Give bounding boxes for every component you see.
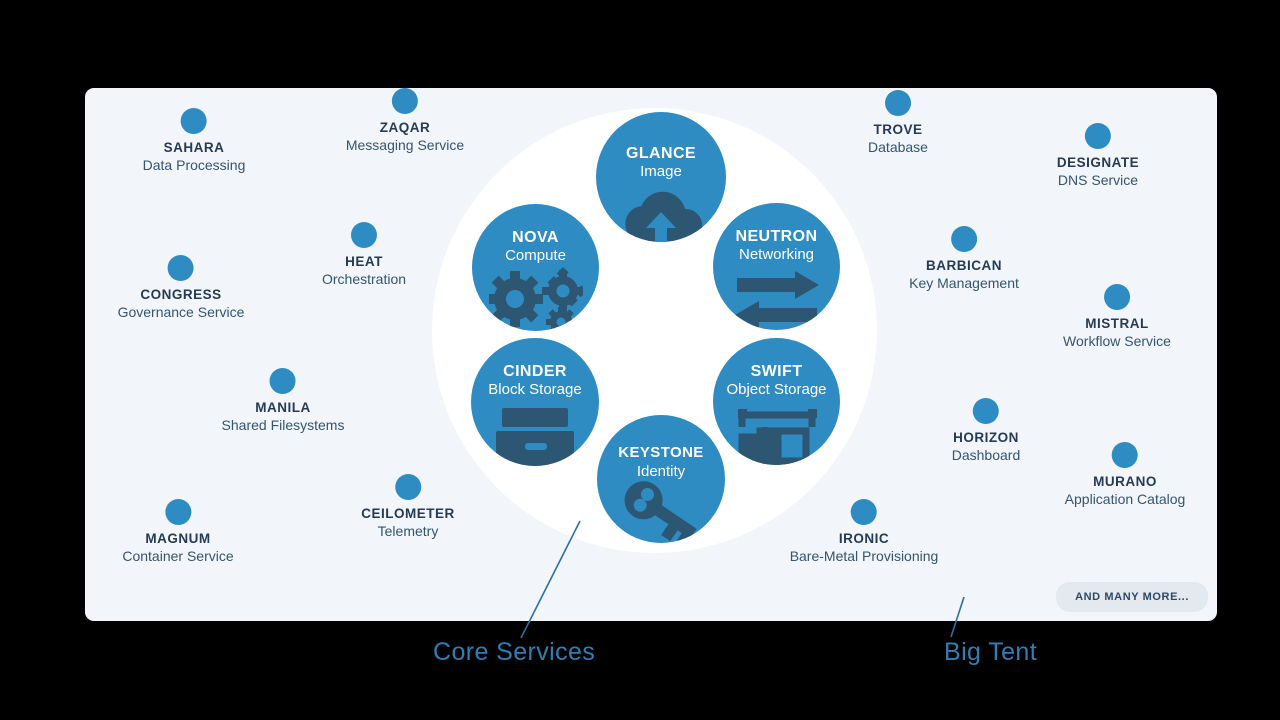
- service-dot-icon: [165, 499, 191, 525]
- service-heat[interactable]: HEAT Orchestration: [322, 222, 406, 289]
- service-desc: Workflow Service: [1063, 333, 1171, 351]
- core-node-keystone[interactable]: KEYSTONE Identity: [597, 415, 725, 543]
- service-name: ZAQAR: [346, 120, 464, 136]
- service-zaqar[interactable]: ZAQAR Messaging Service: [346, 88, 464, 155]
- service-trove[interactable]: TROVE Database: [868, 90, 928, 157]
- service-designate[interactable]: DESIGNATE DNS Service: [1057, 123, 1139, 190]
- service-name: CEILOMETER: [361, 506, 455, 522]
- services-card: GLANCE Image NEUTRON Networking SWIFT Ob: [85, 88, 1217, 621]
- service-magnum[interactable]: MAGNUM Container Service: [122, 499, 233, 566]
- service-dot-icon: [270, 368, 296, 394]
- service-desc: Container Service: [122, 548, 233, 566]
- service-name: MURANO: [1065, 474, 1186, 490]
- service-desc: Dashboard: [952, 447, 1021, 465]
- service-desc: Application Catalog: [1065, 491, 1186, 509]
- core-node-swift[interactable]: SWIFT Object Storage: [713, 338, 840, 465]
- service-desc: Shared Filesystems: [222, 417, 345, 435]
- service-manila[interactable]: MANILA Shared Filesystems: [222, 368, 345, 435]
- core-node-neutron[interactable]: NEUTRON Networking: [713, 203, 840, 330]
- service-desc: DNS Service: [1057, 172, 1139, 190]
- service-ceilometer[interactable]: CEILOMETER Telemetry: [361, 474, 455, 541]
- service-congress[interactable]: CONGRESS Governance Service: [118, 255, 245, 322]
- service-horizon[interactable]: HORIZON Dashboard: [952, 398, 1021, 465]
- core-node-keystone-desc: Identity: [597, 464, 725, 481]
- service-dot-icon: [392, 88, 418, 114]
- service-name: DESIGNATE: [1057, 155, 1139, 171]
- and-many-more-badge[interactable]: AND MANY MORE...: [1056, 582, 1208, 612]
- service-desc: Orchestration: [322, 271, 406, 289]
- service-dot-icon: [168, 255, 194, 281]
- service-desc: Messaging Service: [346, 137, 464, 155]
- caption-big-tent: Big Tent: [944, 638, 1037, 667]
- service-name: HORIZON: [952, 430, 1021, 446]
- service-barbican[interactable]: BARBICAN Key Management: [909, 226, 1019, 293]
- core-node-swift-desc: Object Storage: [713, 382, 840, 399]
- service-name: BARBICAN: [909, 258, 1019, 274]
- service-mistral[interactable]: MISTRAL Workflow Service: [1063, 284, 1171, 351]
- service-dot-icon: [851, 499, 877, 525]
- core-node-nova[interactable]: NOVA Compute: [472, 204, 599, 331]
- service-dot-icon: [181, 108, 207, 134]
- core-node-cinder-desc: Block Storage: [471, 382, 599, 399]
- service-name: MANILA: [222, 400, 345, 416]
- service-name: MAGNUM: [122, 531, 233, 547]
- service-name: SAHARA: [143, 140, 246, 156]
- diagram-canvas: GLANCE Image NEUTRON Networking SWIFT Ob: [0, 0, 1280, 720]
- service-dot-icon: [1112, 442, 1138, 468]
- core-node-neutron-desc: Networking: [713, 247, 840, 264]
- service-desc: Governance Service: [118, 304, 245, 322]
- service-desc: Database: [868, 139, 928, 157]
- service-dot-icon: [885, 90, 911, 116]
- service-dot-icon: [1104, 284, 1130, 310]
- core-node-nova-desc: Compute: [472, 248, 599, 265]
- core-node-neutron-name: NEUTRON: [713, 228, 840, 246]
- service-desc: Data Processing: [143, 157, 246, 175]
- service-dot-icon: [951, 226, 977, 252]
- core-node-glance-name: GLANCE: [596, 145, 726, 163]
- service-name: IRONIC: [790, 531, 939, 547]
- service-desc: Telemetry: [361, 523, 455, 541]
- service-name: MISTRAL: [1063, 316, 1171, 332]
- core-node-swift-name: SWIFT: [713, 363, 840, 381]
- core-node-glance-desc: Image: [596, 164, 726, 181]
- caption-core-services: Core Services: [433, 638, 595, 667]
- core-node-cinder[interactable]: CINDER Block Storage: [471, 338, 599, 466]
- service-ironic[interactable]: IRONIC Bare-Metal Provisioning: [790, 499, 939, 566]
- service-murano[interactable]: MURANO Application Catalog: [1065, 442, 1186, 509]
- core-node-cinder-name: CINDER: [471, 363, 599, 381]
- service-name: CONGRESS: [118, 287, 245, 303]
- core-node-keystone-name: KEYSTONE: [597, 445, 725, 462]
- service-dot-icon: [351, 222, 377, 248]
- service-dot-icon: [973, 398, 999, 424]
- service-dot-icon: [1085, 123, 1111, 149]
- service-name: TROVE: [868, 122, 928, 138]
- service-dot-icon: [395, 474, 421, 500]
- service-sahara[interactable]: SAHARA Data Processing: [143, 108, 246, 175]
- service-desc: Key Management: [909, 275, 1019, 293]
- core-node-nova-name: NOVA: [472, 229, 599, 247]
- service-name: HEAT: [322, 254, 406, 270]
- core-node-glance[interactable]: GLANCE Image: [596, 112, 726, 242]
- service-desc: Bare-Metal Provisioning: [790, 548, 939, 566]
